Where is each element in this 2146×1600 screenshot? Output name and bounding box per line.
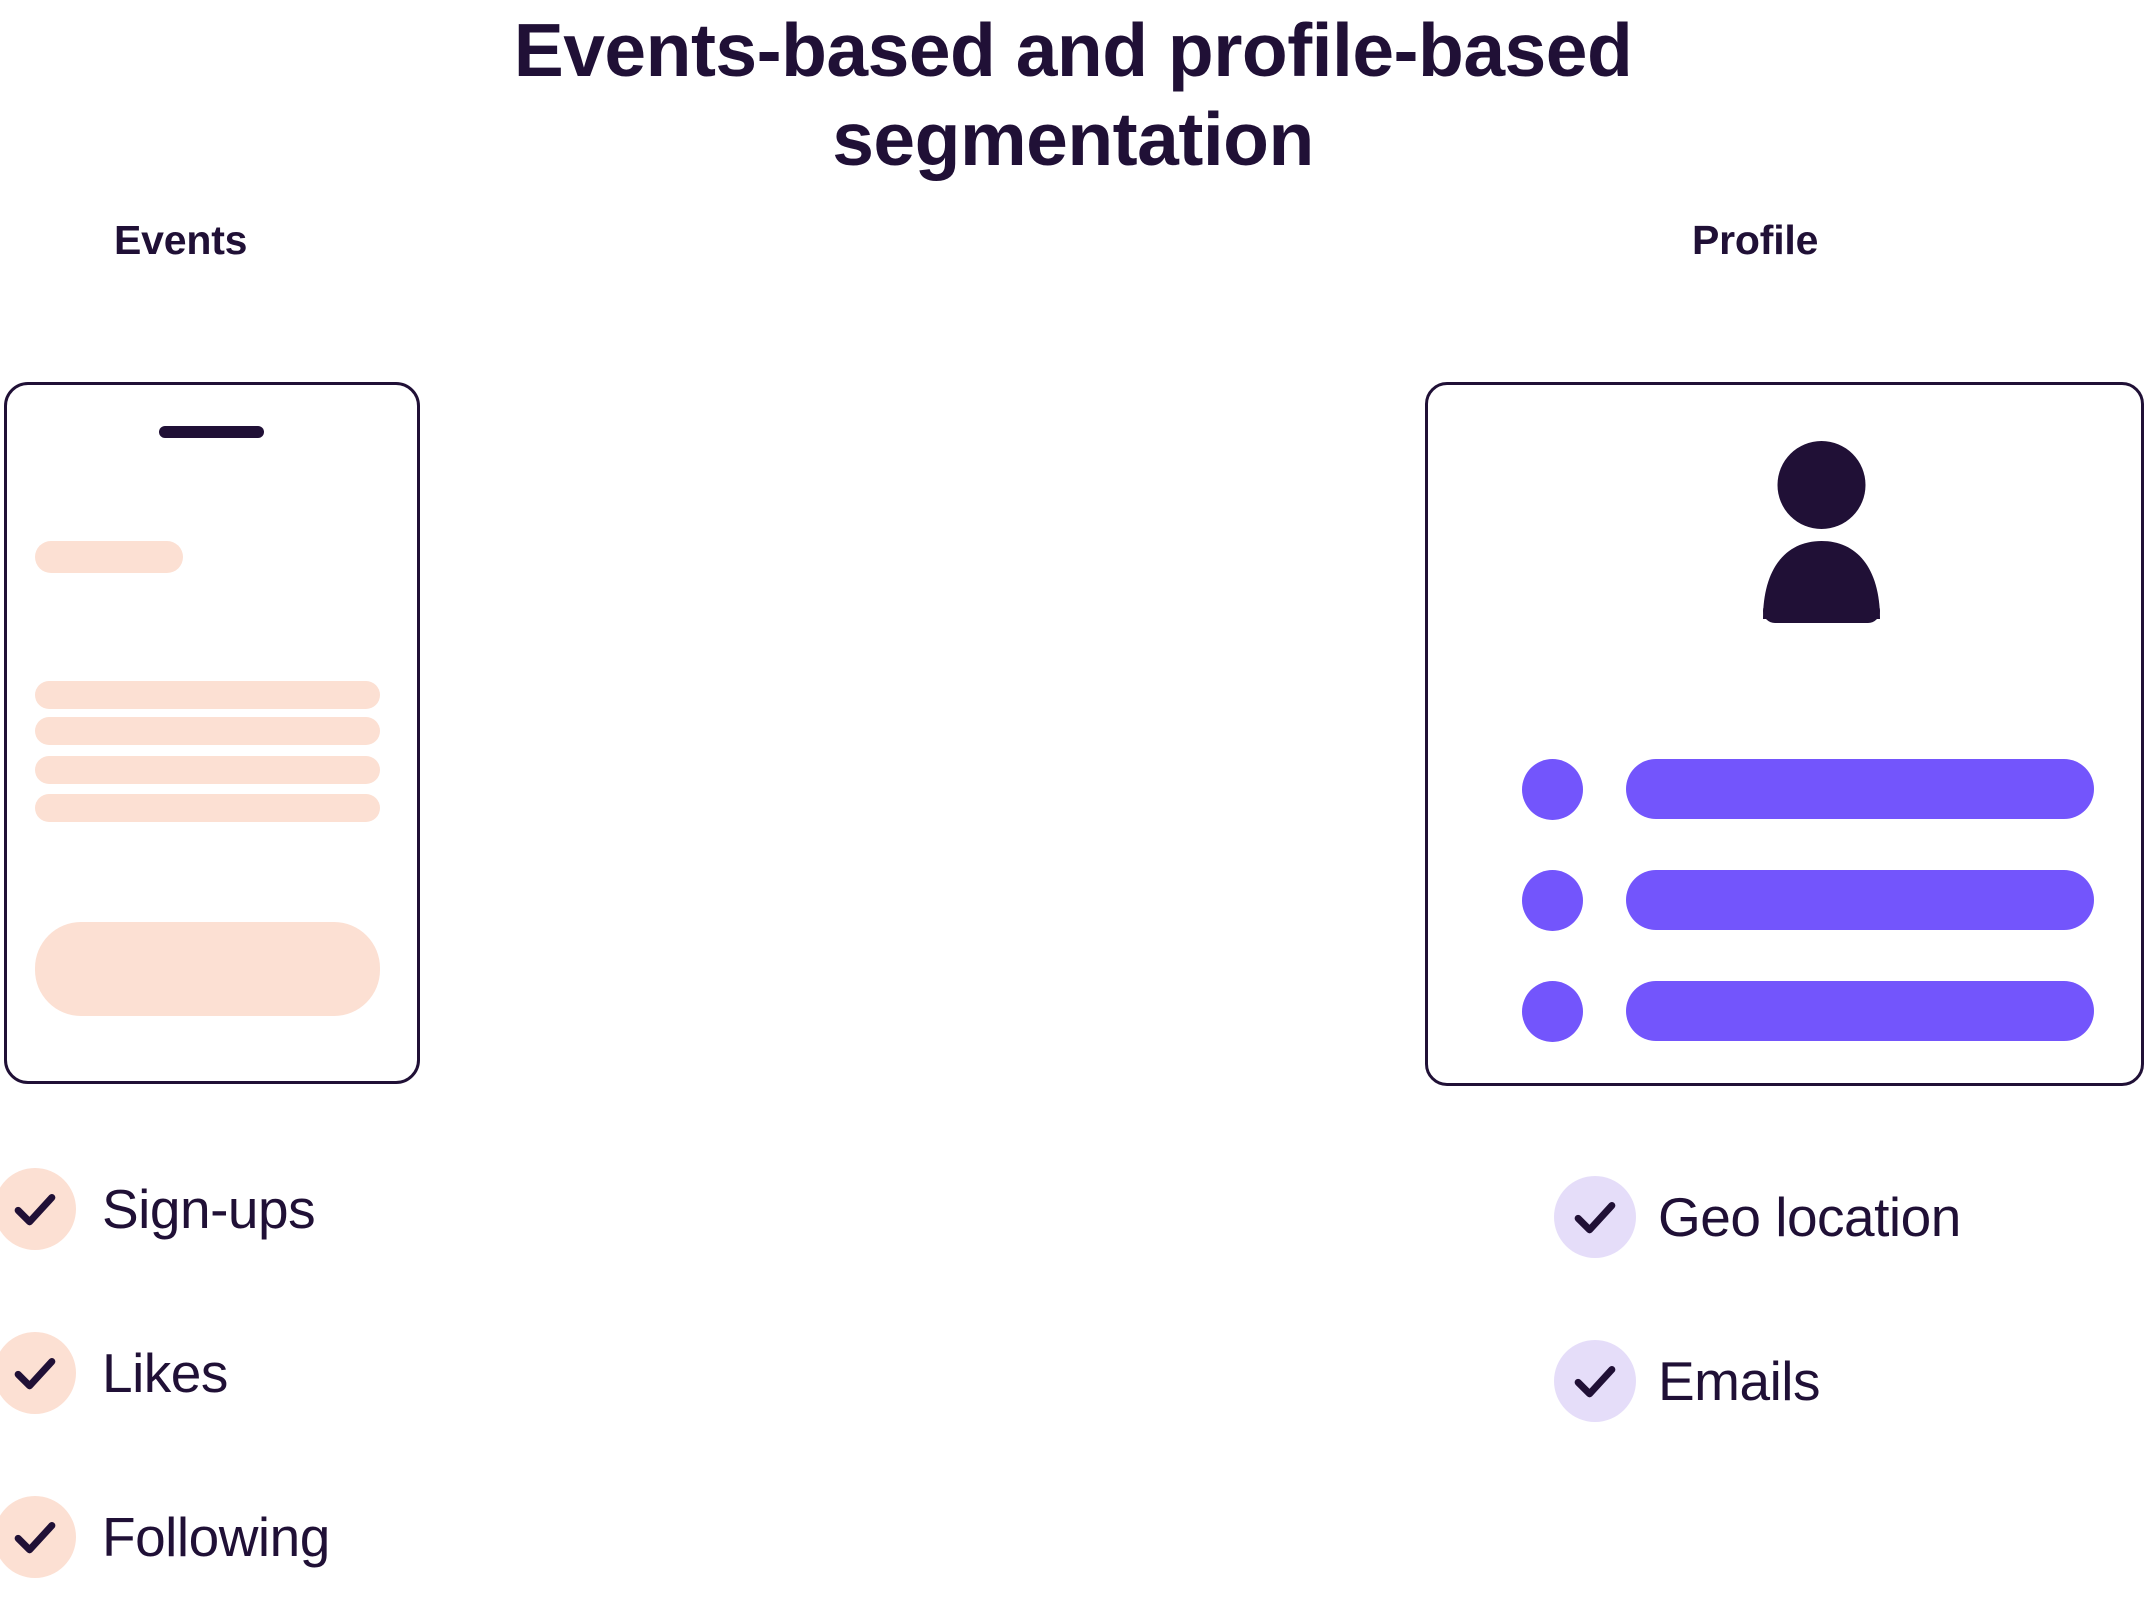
- check-icon: [0, 1168, 76, 1250]
- profile-row-bar: [1626, 870, 2094, 930]
- profile-card: [1425, 382, 2144, 1086]
- person-icon: [1759, 441, 1884, 623]
- check-icon: [0, 1332, 76, 1414]
- list-item: Geo location: [1554, 1176, 1961, 1258]
- check-icon: [0, 1496, 76, 1578]
- list-item: Emails: [1554, 1340, 1961, 1422]
- list-item: Likes: [0, 1332, 330, 1414]
- profile-row-bar: [1626, 981, 2094, 1041]
- profile-column-heading: Profile: [1692, 217, 1818, 264]
- skeleton-row-bar: [35, 756, 380, 784]
- list-item-label: Emails: [1658, 1354, 1820, 1409]
- profile-feature-list: Geo location Emails: [1554, 1176, 1961, 1422]
- list-item-label: Likes: [102, 1346, 228, 1401]
- profile-row-bullet: [1522, 870, 1583, 931]
- list-item: Following: [0, 1496, 330, 1578]
- page-title: Events-based and profile-based segmentat…: [373, 6, 1773, 183]
- list-item-label: Sign-ups: [102, 1182, 315, 1237]
- segmentation-illustration: Events-based and profile-based segmentat…: [0, 0, 2146, 1600]
- skeleton-row-bar: [35, 794, 380, 822]
- events-feature-list: Sign-ups Likes Following: [0, 1168, 330, 1578]
- events-phone-card: [4, 382, 420, 1084]
- profile-row-bar: [1626, 759, 2094, 819]
- skeleton-block: [35, 922, 380, 1016]
- list-item: Sign-ups: [0, 1168, 330, 1250]
- speaker-notch-icon: [159, 426, 264, 438]
- profile-row-bullet: [1522, 759, 1583, 820]
- skeleton-row-bar: [35, 681, 380, 709]
- skeleton-row-bar: [35, 717, 380, 745]
- check-icon: [1554, 1176, 1636, 1258]
- skeleton-title-bar: [35, 541, 183, 573]
- list-item-label: Following: [102, 1510, 330, 1565]
- list-item-label: Geo location: [1658, 1190, 1961, 1245]
- events-column-heading: Events: [114, 217, 247, 264]
- profile-row-bullet: [1522, 981, 1583, 1042]
- check-icon: [1554, 1340, 1636, 1422]
